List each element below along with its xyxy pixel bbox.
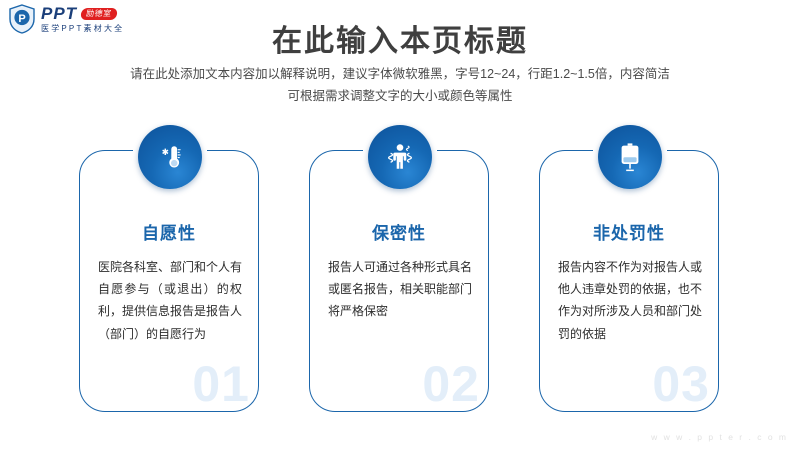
card-frame: 自愿性 医院各科室、部门和个人有自愿参与（或退出）的权利，提供信息报告是报告人（… xyxy=(79,150,259,412)
person-dna-icon xyxy=(368,125,432,189)
card-frame: 非处罚性 报告内容不作为对报告人或他人违章处罚的依据，也不作为对所涉及人员和部门… xyxy=(539,150,719,412)
subtitle-line-1: 请在此处添加文本内容加以解释说明，建议字体微软雅黑，字号12~24，行距1.2~… xyxy=(0,64,800,86)
card-title: 非处罚性 xyxy=(540,219,718,244)
card-nonpunitive[interactable]: 非处罚性 报告内容不作为对报告人或他人违章处罚的依据，也不作为对所涉及人员和部门… xyxy=(539,125,721,415)
thermometer-snowflake-icon xyxy=(138,125,202,189)
card-frame: 保密性 报告人可通过各种形式具名或匿名报告，相关职能部门将严格保密 02 xyxy=(309,150,489,412)
site-watermark: w w w . p p t e r . c o m xyxy=(651,432,788,442)
page-subtitle: 请在此处添加文本内容加以解释说明，建议字体微软雅黑，字号12~24，行距1.2~… xyxy=(0,64,800,108)
card-confidential[interactable]: 保密性 报告人可通过各种形式具名或匿名报告，相关职能部门将严格保密 02 xyxy=(309,125,491,415)
card-body: 医院各科室、部门和个人有自愿参与（或退出）的权利，提供信息报告是报告人（部门）的… xyxy=(98,256,242,345)
card-row: 自愿性 医院各科室、部门和个人有自愿参与（或退出）的权利，提供信息报告是报告人（… xyxy=(0,125,800,425)
subtitle-line-2: 可根据需求调整文字的大小或颜色等属性 xyxy=(0,86,800,108)
page-title: 在此输入本页标题 xyxy=(0,16,800,60)
card-number: 02 xyxy=(422,359,480,409)
card-body: 报告内容不作为对报告人或他人违章处罚的依据，也不作为对所涉及人员和部门处罚的依据 xyxy=(558,256,702,345)
card-voluntary[interactable]: 自愿性 医院各科室、部门和个人有自愿参与（或退出）的权利，提供信息报告是报告人（… xyxy=(79,125,261,415)
card-number: 01 xyxy=(192,359,250,409)
card-number: 03 xyxy=(652,359,710,409)
card-body: 报告人可通过各种形式具名或匿名报告，相关职能部门将严格保密 xyxy=(328,256,472,323)
iv-bag-icon xyxy=(598,125,662,189)
card-title: 保密性 xyxy=(310,219,488,244)
card-title: 自愿性 xyxy=(80,219,258,244)
